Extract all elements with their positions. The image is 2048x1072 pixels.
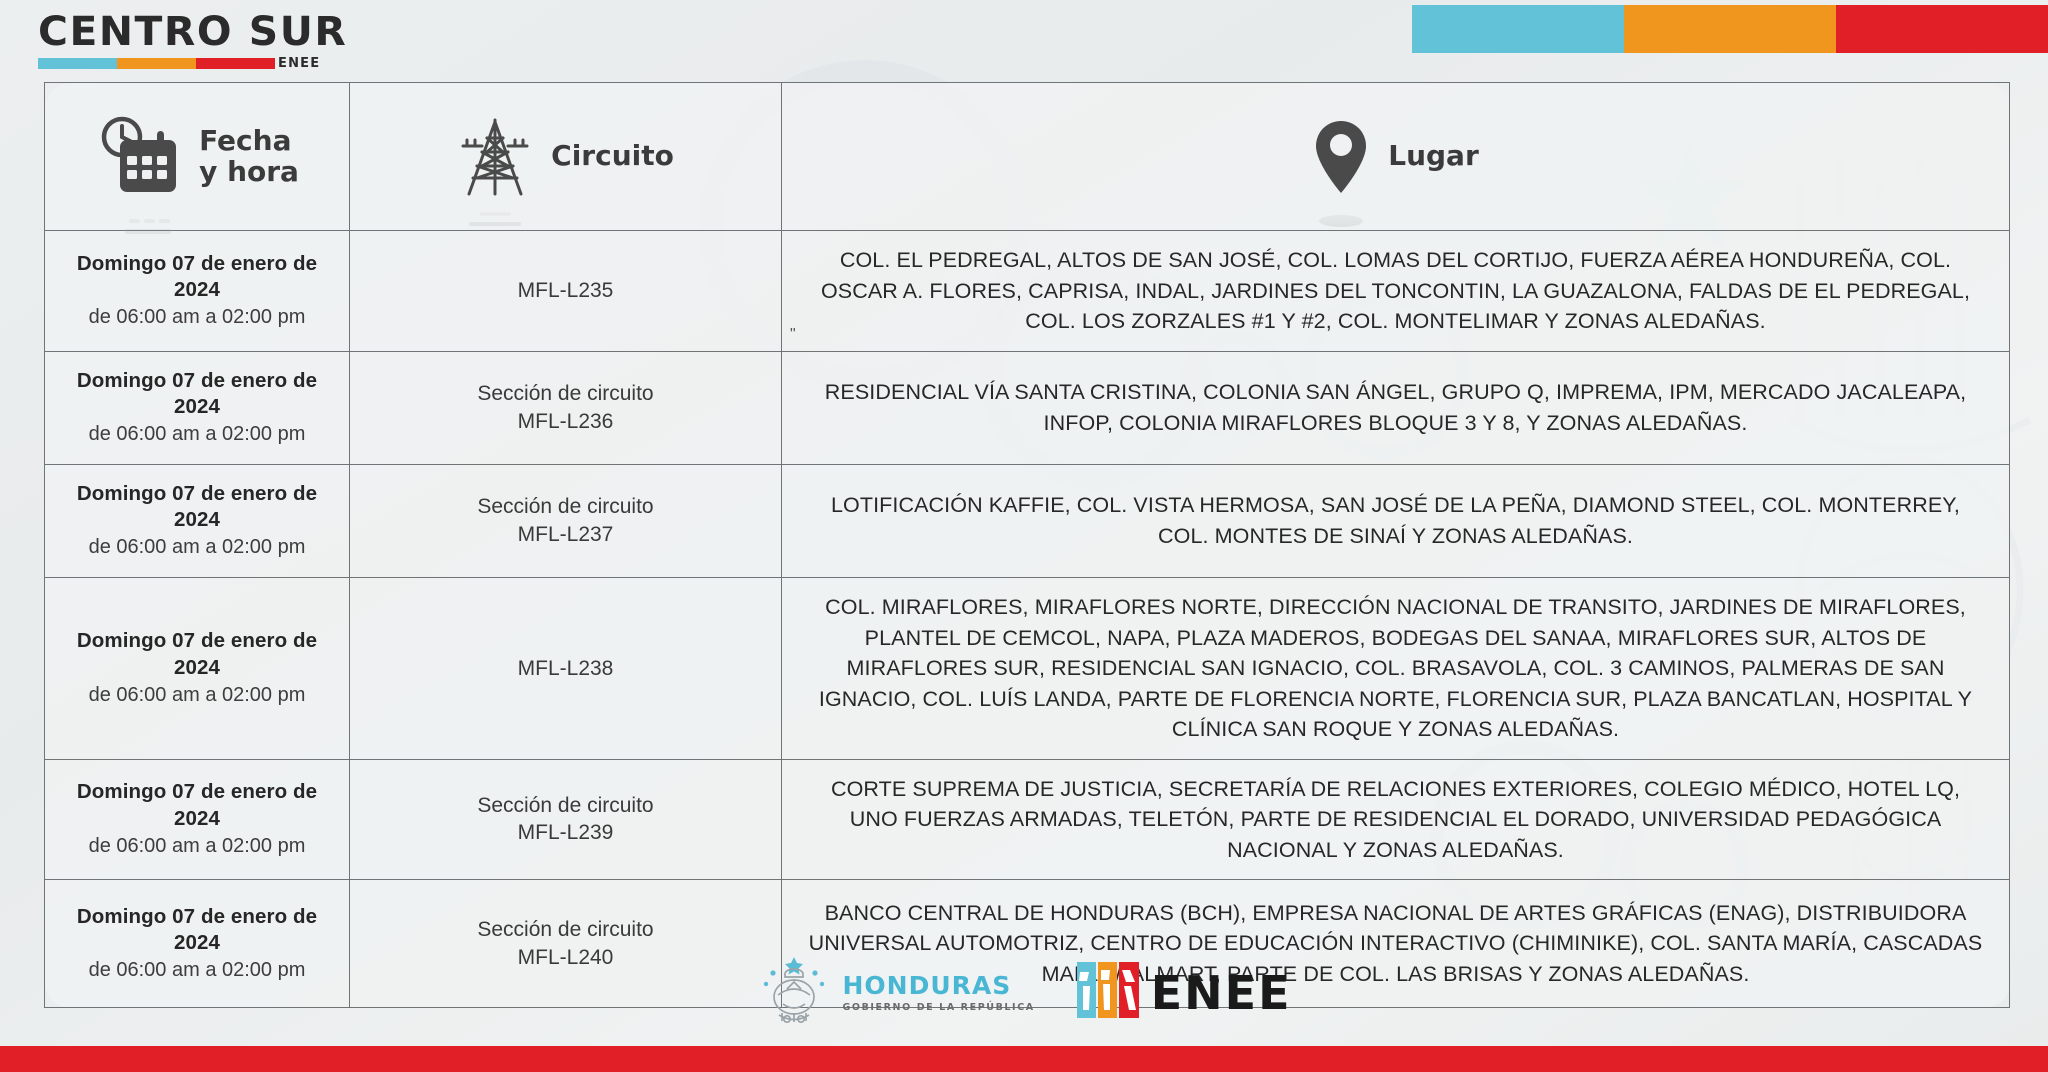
brand-bar-red (196, 58, 275, 69)
lugar-text: CORTE SUPREMA DE JUSTICIA, SECRETARÍA DE… (804, 774, 1987, 866)
fecha-date: Domingo 07 de enero de 2024 (53, 904, 341, 957)
column-header-circuito-label: Circuito (551, 141, 674, 171)
stray-quote-artifact: " (790, 327, 796, 343)
table-header: Fecha y hora (45, 83, 2010, 231)
circuito-prefix: Sección de circuito (360, 916, 771, 944)
transmission-tower-icon-reflection (457, 198, 533, 228)
fecha-date: Domingo 07 de enero de 2024 (53, 368, 341, 421)
circuito-code: MFL-L235 (360, 277, 771, 305)
cell-fecha: Domingo 07 de enero de 2024 de 06:00 am … (45, 231, 350, 352)
enee-mark-icon (1077, 962, 1139, 1023)
fecha-time: de 06:00 am a 02:00 pm (53, 682, 341, 709)
enee-logo: ENEE (1077, 962, 1292, 1023)
cell-lugar: RESIDENCIAL VÍA SANTA CRISTINA, COLONIA … (782, 351, 2010, 464)
brand-title: CENTRO SUR (38, 12, 347, 52)
outage-schedule-table: Fecha y hora (44, 82, 2010, 1008)
cell-fecha: Domingo 07 de enero de 2024 de 06:00 am … (45, 464, 350, 577)
cell-fecha: Domingo 07 de enero de 2024 de 06:00 am … (45, 578, 350, 760)
table-row: Domingo 07 de enero de 2024 de 06:00 am … (45, 759, 2010, 880)
brand-subtitle: ENEE (278, 57, 320, 70)
circuito-code: MFL-L239 (360, 819, 771, 847)
lugar-text: COL. MIRAFLORES, MIRAFLORES NORTE, DIREC… (804, 592, 1987, 745)
circuito-code: MFL-L237 (360, 521, 771, 549)
circuito-prefix: Sección de circuito (360, 380, 771, 408)
lugar-text: RESIDENCIAL VÍA SANTA CRISTINA, COLONIA … (804, 377, 1987, 438)
circuito-code: MFL-L238 (360, 655, 771, 683)
column-header-circuito: Circuito (350, 83, 782, 231)
brand-bar-cyan (38, 58, 117, 69)
top-bar-red (1836, 5, 2048, 53)
transmission-tower-icon (457, 116, 533, 198)
table-row: Domingo 07 de enero de 2024 de 06:00 am … (45, 578, 2010, 760)
cell-circuito: MFL-L235 (350, 231, 782, 352)
cell-lugar: LOTIFICACIÓN KAFFIE, COL. VISTA HERMOSA,… (782, 464, 2010, 577)
honduras-title: HONDURAS (843, 973, 1035, 998)
column-header-fecha-line2: y hora (199, 155, 299, 188)
column-header-fecha-line1: Fecha (199, 124, 291, 157)
cell-fecha: Domingo 07 de enero de 2024 de 06:00 am … (45, 759, 350, 880)
footer-logos: HONDURAS GOBIERNO DE LA REPÚBLICA ENEE (0, 955, 2048, 1030)
fecha-date: Domingo 07 de enero de 2024 (53, 779, 341, 832)
calendar-clock-icon (95, 116, 181, 198)
fecha-date: Domingo 07 de enero de 2024 (53, 481, 341, 534)
top-bar-cyan (1412, 5, 1624, 53)
map-pin-icon (1312, 117, 1370, 197)
enee-wordmark: ENEE (1151, 970, 1292, 1016)
circuito-prefix: Sección de circuito (360, 792, 771, 820)
circuito-prefix: Sección de circuito (360, 493, 771, 521)
table-row: Domingo 07 de enero de 2024 de 06:00 am … (45, 231, 2010, 352)
cell-circuito: Sección de circuito MFL-L237 (350, 464, 782, 577)
fecha-time: de 06:00 am a 02:00 pm (53, 304, 341, 331)
bottom-red-bar (0, 1046, 2048, 1072)
honduras-government-logo: HONDURAS GOBIERNO DE LA REPÚBLICA (757, 955, 1035, 1030)
fecha-time: de 06:00 am a 02:00 pm (53, 421, 341, 448)
top-bar-orange (1624, 5, 1836, 53)
honduras-subtitle: GOBIERNO DE LA REPÚBLICA (843, 1003, 1035, 1013)
brand-color-bars: ENEE (38, 57, 341, 70)
table-row: Domingo 07 de enero de 2024 de 06:00 am … (45, 351, 2010, 464)
cell-lugar: COL. MIRAFLORES, MIRAFLORES NORTE, DIREC… (782, 578, 2010, 760)
table-row: Domingo 07 de enero de 2024 de 06:00 am … (45, 464, 2010, 577)
outage-schedule-table-container: Fecha y hora (44, 82, 2010, 924)
top-color-bars (1412, 5, 2048, 53)
cell-circuito: Sección de circuito MFL-L239 (350, 759, 782, 880)
map-pin-icon-reflection (1312, 197, 1370, 227)
lugar-text: COL. EL PEDREGAL, ALTOS DE SAN JOSÉ, COL… (804, 245, 1987, 337)
lugar-text: LOTIFICACIÓN KAFFIE, COL. VISTA HERMOSA,… (804, 490, 1987, 551)
column-header-lugar-label: Lugar (1388, 141, 1479, 171)
fecha-time: de 06:00 am a 02:00 pm (53, 534, 341, 561)
cell-circuito: MFL-L238 (350, 578, 782, 760)
calendar-clock-icon-reflection (95, 198, 181, 238)
cell-circuito: Sección de circuito MFL-L236 (350, 351, 782, 464)
column-header-lugar: Lugar (782, 83, 2010, 231)
table-body: Domingo 07 de enero de 2024 de 06:00 am … (45, 231, 2010, 1008)
fecha-time: de 06:00 am a 02:00 pm (53, 833, 341, 860)
cell-fecha: Domingo 07 de enero de 2024 de 06:00 am … (45, 351, 350, 464)
brand-logo: CENTRO SUR ENEE (38, 12, 341, 70)
honduras-coat-of-arms-icon (757, 955, 831, 1030)
cell-lugar: COL. EL PEDREGAL, ALTOS DE SAN JOSÉ, COL… (782, 231, 2010, 352)
fecha-date: Domingo 07 de enero de 2024 (53, 251, 341, 304)
cell-lugar: CORTE SUPREMA DE JUSTICIA, SECRETARÍA DE… (782, 759, 2010, 880)
column-header-fecha-label: Fecha y hora (199, 126, 299, 186)
honduras-text-block: HONDURAS GOBIERNO DE LA REPÚBLICA (843, 973, 1035, 1013)
fecha-date: Domingo 07 de enero de 2024 (53, 628, 341, 681)
circuito-code: MFL-L236 (360, 408, 771, 436)
column-header-fecha: Fecha y hora (45, 83, 350, 231)
brand-bar-orange (117, 58, 196, 69)
